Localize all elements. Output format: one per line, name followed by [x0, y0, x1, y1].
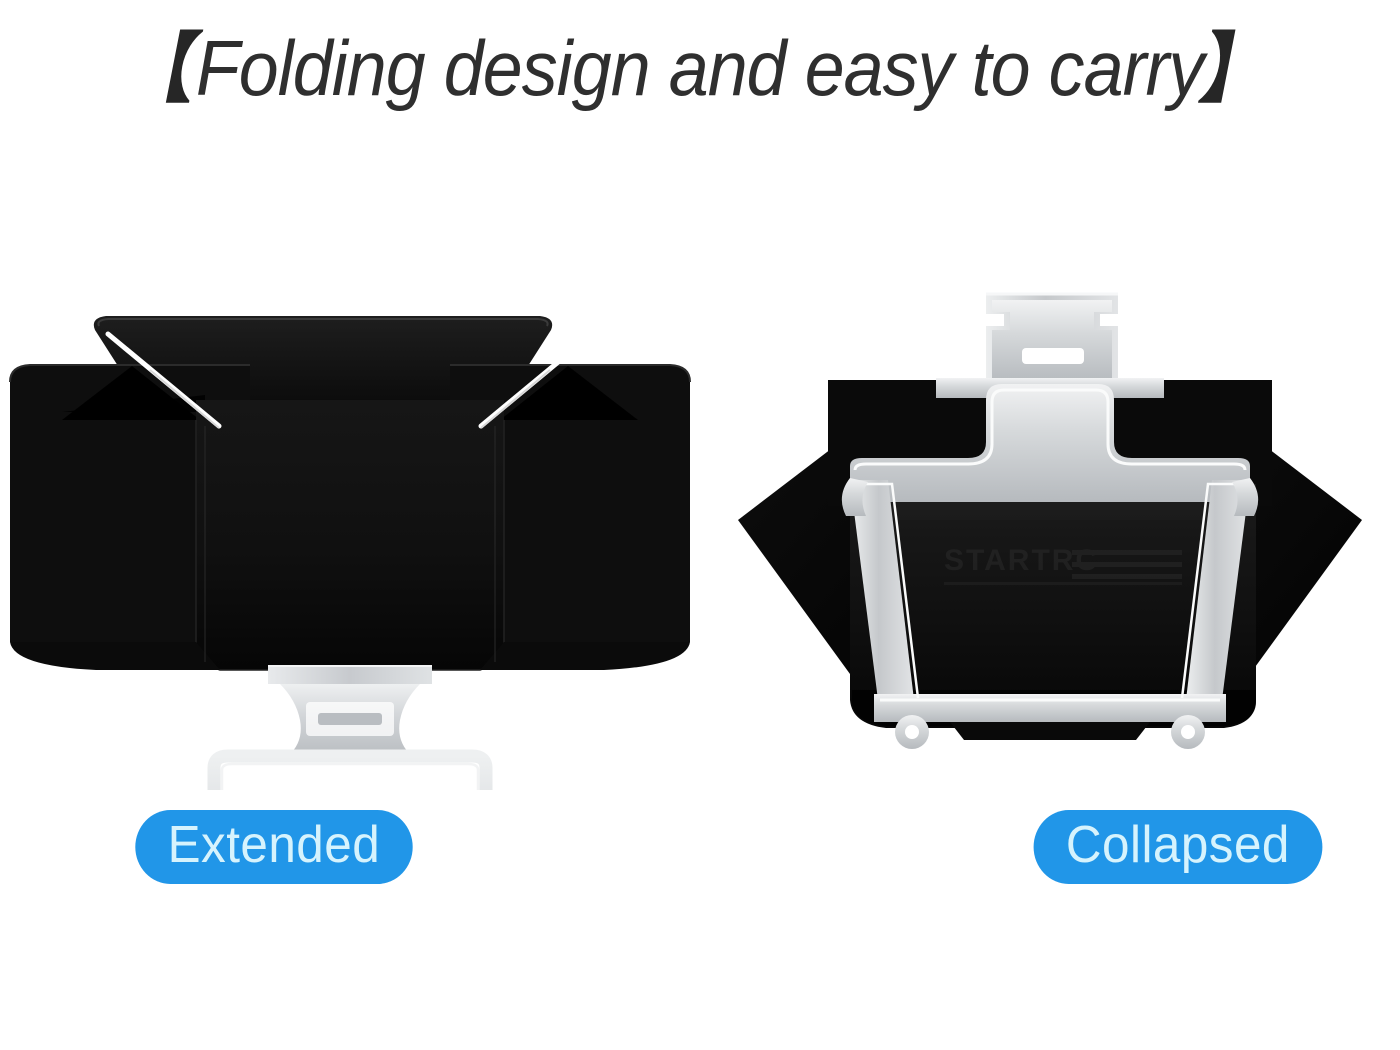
metal-clip [986, 294, 1118, 388]
product-extended: Extended [0, 270, 700, 910]
mounting-bracket [214, 756, 486, 790]
sun-hood-collapsed-illustration: STARTRC [700, 270, 1400, 790]
product-collapsed: STARTRC [700, 270, 1400, 910]
metal-clip [268, 666, 432, 756]
sun-hood-extended-illustration [0, 270, 700, 790]
left-skirt [10, 642, 220, 670]
right-skirt [480, 642, 690, 670]
badge-row-extended: Extended [0, 810, 700, 884]
bottom-black-tab [950, 722, 1150, 740]
product-comparison-stage: Extended [0, 0, 1400, 1050]
status-badge-extended[interactable]: Extended [135, 810, 412, 884]
brand-emboss-text: STARTRC [944, 544, 1099, 577]
status-badge-collapsed[interactable]: Collapsed [1034, 810, 1323, 884]
front-panel [196, 400, 504, 670]
badge-row-collapsed: Collapsed [700, 810, 1400, 884]
